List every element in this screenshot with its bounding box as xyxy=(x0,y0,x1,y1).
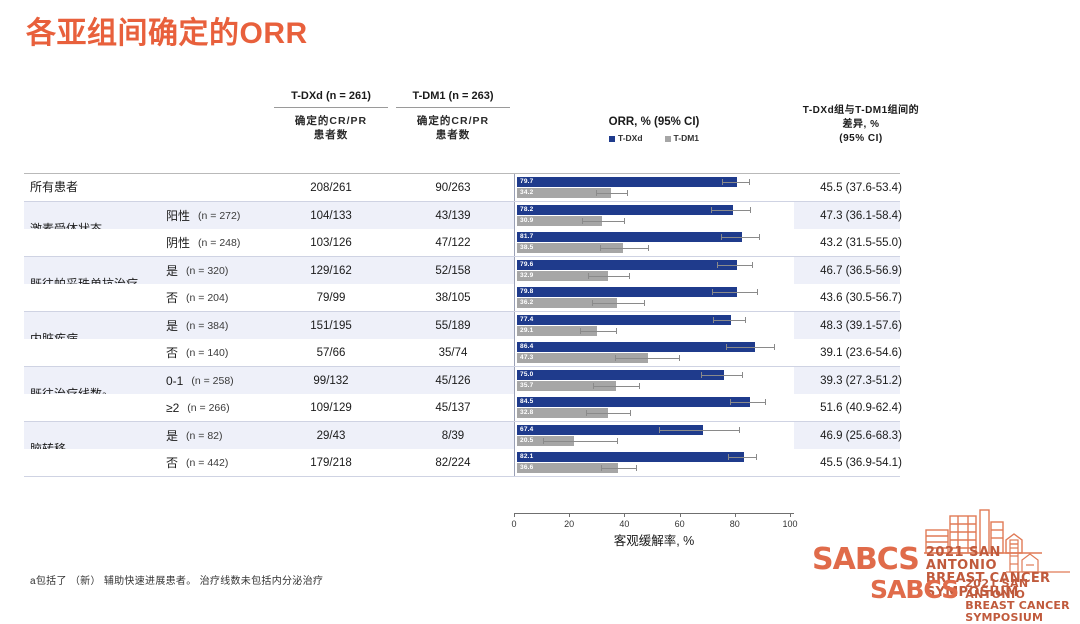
cell-tdxd-responders: 208/261 xyxy=(270,174,392,201)
cell-difference: 45.5 (36.9-54.1) xyxy=(766,449,956,476)
bar-plot: 67.420.5 xyxy=(517,422,794,449)
bar-tdxd xyxy=(517,397,750,407)
bar-group-tdxd: 82.1 xyxy=(517,452,794,462)
orr-title: ORR, % (95% CI) xyxy=(514,116,794,128)
bar-group-tdxd: 75.0 xyxy=(517,370,794,380)
error-bar-tdm1 xyxy=(615,357,680,359)
cell-orr-chart: 67.420.5 xyxy=(514,422,794,449)
cell-orr-chart: 77.429.1 xyxy=(514,312,794,339)
error-bar-tdxd xyxy=(728,456,757,458)
cell-tdxd-responders: 151/195 xyxy=(270,312,392,339)
bar-value-tdm1: 20.5 xyxy=(520,436,533,446)
bar-plot: 79.734.2 xyxy=(517,174,794,201)
logo-sabcs-primary: SABCS xyxy=(812,546,919,574)
table-row: ≥2(n = 266)109/12945/13784.532.851.6 (40… xyxy=(24,394,900,421)
cell-tdm1-responders: 35/74 xyxy=(392,339,514,366)
bar-value-tdxd: 75.0 xyxy=(520,370,533,380)
axis-tick xyxy=(624,513,625,517)
bar-value-tdm1: 35.7 xyxy=(520,381,533,391)
tdm1-sub-line1: 确定的CR/PR xyxy=(392,114,514,128)
sabcs-logo: SABCS 2021 SAN ANTONIO BREAST CANCER SYM… xyxy=(806,508,1074,608)
cell-tdxd-responders: 103/126 xyxy=(270,229,392,256)
bar-value-tdm1: 32.9 xyxy=(520,271,533,281)
cell-difference: 45.5 (37.6-53.4) xyxy=(766,174,956,201)
level-name: 阳性 xyxy=(166,207,190,224)
tdxd-sub-line2: 患者数 xyxy=(270,128,392,142)
error-bar-tdm1 xyxy=(588,275,630,277)
bar-plot: 81.738.5 xyxy=(517,229,794,256)
axis-tick-label: 0 xyxy=(511,519,516,529)
cell-tdm1-responders: 52/158 xyxy=(392,257,514,284)
bar-tdxd xyxy=(517,452,744,462)
cell-orr-chart: 79.836.2 xyxy=(514,284,794,311)
cell-orr-chart: 78.230.9 xyxy=(514,202,794,229)
error-bar-tdm1 xyxy=(600,247,649,249)
legend-item-tdm1: T-DM1 xyxy=(665,133,700,143)
table-header: T-DXd (n = 261) 确定的CR/PR 患者数 T-DM1 (n = … xyxy=(24,90,934,174)
cell-tdm1-responders: 45/126 xyxy=(392,367,514,394)
table-row: 脑转移是(n = 82)29/438/3967.420.546.9 (25.6-… xyxy=(24,422,900,449)
bar-group-tdxd: 84.5 xyxy=(517,397,794,407)
bar-group-tdm1: 32.8 xyxy=(517,408,794,418)
bar-tdxd xyxy=(517,370,724,380)
bar-value-tdxd: 77.4 xyxy=(520,315,533,325)
subgroup-level-label: 阳性(n = 272) xyxy=(152,202,270,229)
column-header-tdxd: T-DXd (n = 261) 确定的CR/PR 患者数 xyxy=(270,90,392,142)
error-bar-tdm1 xyxy=(601,467,637,469)
bar-value-tdxd: 67.4 xyxy=(520,425,533,435)
logo-lockup-secondary: SABCS 2021 SAN ANTONIO BREAST CANCER SYM… xyxy=(870,578,1074,624)
level-n: (n = 204) xyxy=(186,292,228,304)
bar-value-tdxd: 78.2 xyxy=(520,205,533,215)
subgroup-level-label: 否(n = 442) xyxy=(152,449,270,476)
bar-value-tdm1: 47.3 xyxy=(520,353,533,363)
bar-value-tdm1: 38.5 xyxy=(520,243,533,253)
error-bar-tdm1 xyxy=(592,302,645,304)
bar-group-tdm1: 35.7 xyxy=(517,381,794,391)
bar-group-tdxd: 79.7 xyxy=(517,177,794,187)
cell-difference: 48.3 (39.1-57.6) xyxy=(766,312,956,339)
table-row: 所有患者208/26190/26379.734.245.5 (37.6-53.4… xyxy=(24,174,900,201)
axis-tick-label: 40 xyxy=(619,519,629,529)
legend-swatch-tdm1 xyxy=(665,136,671,142)
error-bar-tdxd xyxy=(717,264,753,266)
page-title: 各亚组间确定的ORR xyxy=(26,8,308,52)
bar-group-tdxd: 86.4 xyxy=(517,342,794,352)
axis-tick-label: 80 xyxy=(730,519,740,529)
table-row: 激素受体状态阳性(n = 272)104/13343/13978.230.947… xyxy=(24,202,900,229)
diff-line2: 差异, % xyxy=(766,118,956,132)
error-bar-tdxd xyxy=(701,374,743,376)
bar-value-tdm1: 36.6 xyxy=(520,463,533,473)
bar-group-tdxd: 67.4 xyxy=(517,425,794,435)
axis-tick xyxy=(680,513,681,517)
cell-tdxd-responders: 179/218 xyxy=(270,449,392,476)
table-row: 否(n = 140)57/6635/7486.447.339.1 (23.6-5… xyxy=(24,339,900,366)
bar-value-tdm1: 36.2 xyxy=(520,298,533,308)
bar-tdxd xyxy=(517,260,737,270)
subgroup-block: 既往帕妥珠单抗治疗是(n = 320)129/16252/15879.632.9… xyxy=(24,257,900,312)
header-rule xyxy=(396,107,510,108)
bar-plot: 84.532.8 xyxy=(517,394,794,421)
bar-group-tdm1: 32.9 xyxy=(517,271,794,281)
bar-value-tdxd: 79.8 xyxy=(520,287,533,297)
bar-tdxd xyxy=(517,232,742,242)
error-bar-tdxd xyxy=(711,209,751,211)
error-bar-tdm1 xyxy=(596,192,629,194)
legend-swatch-tdxd xyxy=(609,136,615,142)
cell-tdxd-responders: 129/162 xyxy=(270,257,392,284)
level-n: (n = 248) xyxy=(198,237,240,249)
bar-value-tdm1: 30.9 xyxy=(520,216,533,226)
level-name: 否 xyxy=(166,289,178,306)
bar-plot: 77.429.1 xyxy=(517,312,794,339)
subgroup-level-label: 是(n = 82) xyxy=(152,422,270,449)
error-bar-tdm1 xyxy=(593,385,641,387)
axis-line xyxy=(514,513,794,514)
cell-difference: 39.3 (27.3-51.2) xyxy=(766,367,956,394)
logo-line1-primary: 2021 SAN ANTONIO xyxy=(926,546,1074,572)
subgroup-level-label: ≥2(n = 266) xyxy=(152,394,270,421)
cell-orr-chart: 79.734.2 xyxy=(514,174,794,201)
level-n: (n = 266) xyxy=(187,402,229,414)
bar-value-tdxd: 84.5 xyxy=(520,397,533,407)
subgroup-level-label: 是(n = 384) xyxy=(152,312,270,339)
bar-group-tdxd: 78.2 xyxy=(517,205,794,215)
bar-group-tdxd: 79.6 xyxy=(517,260,794,270)
subgroup-block: 脑转移是(n = 82)29/438/3967.420.546.9 (25.6-… xyxy=(24,422,900,477)
bar-value-tdxd: 82.1 xyxy=(520,452,533,462)
bar-plot: 82.136.6 xyxy=(517,449,794,476)
cell-tdxd-responders: 99/132 xyxy=(270,367,392,394)
level-name: 是 xyxy=(166,262,178,279)
axis-tick xyxy=(569,513,570,517)
cell-difference: 51.6 (40.9-62.4) xyxy=(766,394,956,421)
bar-tdxd xyxy=(517,287,737,297)
legend-label-tdxd: T-DXd xyxy=(618,133,643,143)
bar-group-tdm1: 36.6 xyxy=(517,463,794,473)
cell-tdxd-responders: 79/99 xyxy=(270,284,392,311)
level-n: (n = 442) xyxy=(186,457,228,469)
bar-tdxd xyxy=(517,315,731,325)
axis-tick xyxy=(514,513,515,517)
level-name: 是 xyxy=(166,317,178,334)
level-name: 否 xyxy=(166,454,178,471)
legend-label-tdm1: T-DM1 xyxy=(674,133,700,143)
axis-tick xyxy=(790,513,791,517)
chart-legend: T-DXd T-DM1 xyxy=(514,133,794,143)
cell-orr-chart: 79.632.9 xyxy=(514,257,794,284)
tdxd-sub-line1: 确定的CR/PR xyxy=(270,114,392,128)
level-name: ≥2 xyxy=(166,401,179,415)
cell-orr-chart: 84.532.8 xyxy=(514,394,794,421)
column-header-tdm1: T-DM1 (n = 263) 确定的CR/PR 患者数 xyxy=(392,90,514,142)
cell-tdm1-responders: 55/189 xyxy=(392,312,514,339)
bar-group-tdxd: 77.4 xyxy=(517,315,794,325)
table-row: 既往治疗线数a0-1(n = 258)99/13245/12675.035.73… xyxy=(24,367,900,394)
error-bar-tdm1 xyxy=(543,440,618,442)
tdxd-arm-label: T-DXd (n = 261) xyxy=(270,90,392,102)
axis-tick-label: 100 xyxy=(782,519,797,529)
cell-tdxd-responders: 57/66 xyxy=(270,339,392,366)
cell-orr-chart: 82.136.6 xyxy=(514,449,794,476)
cell-difference: 39.1 (23.6-54.6) xyxy=(766,339,956,366)
logo-line2-secondary: BREAST CANCER SYMPOSIUM xyxy=(965,600,1074,624)
cell-tdm1-responders: 38/105 xyxy=(392,284,514,311)
cell-tdm1-responders: 45/137 xyxy=(392,394,514,421)
cell-tdm1-responders: 8/39 xyxy=(392,422,514,449)
error-bar-tdxd xyxy=(713,319,747,321)
cell-tdxd-responders: 104/133 xyxy=(270,202,392,229)
bar-group-tdxd: 81.7 xyxy=(517,232,794,242)
bar-plot: 79.632.9 xyxy=(517,257,794,284)
cell-tdm1-responders: 43/139 xyxy=(392,202,514,229)
level-n: (n = 82) xyxy=(186,430,222,442)
level-name: 否 xyxy=(166,344,178,361)
bar-value-tdxd: 81.7 xyxy=(520,232,533,242)
column-header-difference: T-DXd组与T-DM1组间的 差异, % (95% CI) xyxy=(766,104,956,146)
subgroup-block: 所有患者208/26190/26379.734.245.5 (37.6-53.4… xyxy=(24,174,900,202)
table-body: 所有患者208/26190/26379.734.245.5 (37.6-53.4… xyxy=(24,174,900,477)
tdm1-arm-label: T-DM1 (n = 263) xyxy=(392,90,514,102)
diff-line1: T-DXd组与T-DM1组间的 xyxy=(766,104,956,118)
level-n: (n = 140) xyxy=(186,347,228,359)
cell-tdm1-responders: 47/122 xyxy=(392,229,514,256)
table-row: 内脏疾病是(n = 384)151/19555/18977.429.148.3 … xyxy=(24,312,900,339)
table-row: 阴性(n = 248)103/12647/12281.738.543.2 (31… xyxy=(24,229,900,256)
subgroup-level-label: 否(n = 204) xyxy=(152,284,270,311)
level-n: (n = 272) xyxy=(198,210,240,222)
error-bar-tdxd xyxy=(722,181,750,183)
header-rule xyxy=(274,107,388,108)
bar-group-tdm1: 34.2 xyxy=(517,188,794,198)
bar-value-tdxd: 86.4 xyxy=(520,342,533,352)
cell-difference: 43.2 (31.5-55.0) xyxy=(766,229,956,256)
cell-difference: 47.3 (36.1-58.4) xyxy=(766,202,956,229)
subgroup-level-label: 否(n = 140) xyxy=(152,339,270,366)
table-row: 既往帕妥珠单抗治疗是(n = 320)129/16252/15879.632.9… xyxy=(24,257,900,284)
bar-value-tdm1: 29.1 xyxy=(520,326,533,336)
bar-plot: 75.035.7 xyxy=(517,367,794,394)
legend-item-tdxd: T-DXd xyxy=(609,133,643,143)
bar-plot: 79.836.2 xyxy=(517,284,794,311)
subgroup-level-label: 0-1(n = 258) xyxy=(152,367,270,394)
cell-tdxd-responders: 29/43 xyxy=(270,422,392,449)
x-axis-title: 客观缓解率, % xyxy=(514,530,794,549)
bar-group-tdm1: 30.9 xyxy=(517,216,794,226)
bar-plot: 86.447.3 xyxy=(517,339,794,366)
cell-tdm1-responders: 82/224 xyxy=(392,449,514,476)
bar-group-tdm1: 47.3 xyxy=(517,353,794,363)
level-n: (n = 320) xyxy=(186,265,228,277)
bar-tdxd xyxy=(517,342,755,352)
table-row: 否(n = 204)79/9938/10579.836.243.6 (30.5-… xyxy=(24,284,900,311)
bar-group-tdm1: 38.5 xyxy=(517,243,794,253)
footnote: a包括了 （新） 辅助快速进展患者。 治疗线数未包括内分泌治疗 xyxy=(30,572,323,587)
cell-orr-chart: 75.035.7 xyxy=(514,367,794,394)
column-header-orr: ORR, % (95% CI) T-DXd T-DM1 xyxy=(514,116,794,143)
tdm1-sub-line2: 患者数 xyxy=(392,128,514,142)
error-bar-tdm1 xyxy=(580,330,617,332)
axis-tick xyxy=(735,513,736,517)
bar-plot: 78.230.9 xyxy=(517,202,794,229)
cell-orr-chart: 86.447.3 xyxy=(514,339,794,366)
subgroup-block: 既往治疗线数a0-1(n = 258)99/13245/12675.035.73… xyxy=(24,367,900,422)
bar-group-tdm1: 29.1 xyxy=(517,326,794,336)
subgroup-label: 所有患者 xyxy=(24,174,152,201)
cell-difference: 46.7 (36.5-56.9) xyxy=(766,257,956,284)
bar-value-tdm1: 34.2 xyxy=(520,188,533,198)
table-row: 否(n = 442)179/21882/22482.136.645.5 (36.… xyxy=(24,449,900,476)
error-bar-tdm1 xyxy=(586,412,631,414)
error-bar-tdxd xyxy=(712,291,758,293)
axis-tick-label: 20 xyxy=(564,519,574,529)
cell-orr-chart: 81.738.5 xyxy=(514,229,794,256)
cell-difference: 46.9 (25.6-68.3) xyxy=(766,422,956,449)
subgroup-level-label: 是(n = 320) xyxy=(152,257,270,284)
subgroup-level-label: 阴性(n = 248) xyxy=(152,229,270,256)
error-bar-tdxd xyxy=(721,236,760,238)
level-name: 是 xyxy=(166,427,178,444)
slide-root: 各亚组间确定的ORR T-DXd (n = 261) 确定的CR/PR 患者数 … xyxy=(0,0,1080,611)
cell-tdxd-responders: 109/129 xyxy=(270,394,392,421)
bar-tdxd xyxy=(517,177,737,187)
bar-tdxd xyxy=(517,205,733,215)
cell-difference: 43.6 (30.5-56.7) xyxy=(766,284,956,311)
diff-line3: (95% CI) xyxy=(766,132,956,146)
subgroup-block: 激素受体状态阳性(n = 272)104/13343/13978.230.947… xyxy=(24,202,900,257)
subgroup-block: 内脏疾病是(n = 384)151/19555/18977.429.148.3 … xyxy=(24,312,900,367)
cell-tdm1-responders: 90/263 xyxy=(392,174,514,201)
bar-group-tdm1: 36.2 xyxy=(517,298,794,308)
bar-value-tdxd: 79.6 xyxy=(520,260,533,270)
logo-line1-secondary: 2021 SAN ANTONIO xyxy=(965,578,1074,600)
logo-lines-secondary: 2021 SAN ANTONIO BREAST CANCER SYMPOSIUM xyxy=(965,578,1074,624)
level-name: 0-1 xyxy=(166,374,183,388)
bar-group-tdxd: 79.8 xyxy=(517,287,794,297)
level-n: (n = 258) xyxy=(191,375,233,387)
bar-value-tdm1: 32.8 xyxy=(520,408,533,418)
error-bar-tdxd xyxy=(659,429,740,431)
error-bar-tdxd xyxy=(730,401,766,403)
level-name: 阴性 xyxy=(166,234,190,251)
level-n: (n = 384) xyxy=(186,320,228,332)
error-bar-tdm1 xyxy=(582,220,626,222)
error-bar-tdxd xyxy=(726,346,775,348)
axis-tick-label: 60 xyxy=(675,519,685,529)
logo-sabcs-secondary: SABCS xyxy=(870,578,958,602)
bar-value-tdxd: 79.7 xyxy=(520,177,533,187)
bar-group-tdm1: 20.5 xyxy=(517,436,794,446)
